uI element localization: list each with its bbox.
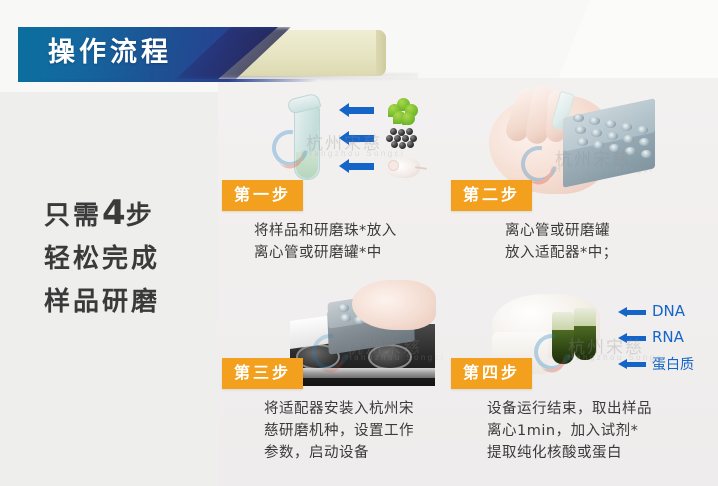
centrifuge-tube-icon <box>294 106 320 180</box>
grinding-beads-icon <box>386 128 418 150</box>
page-title: 操作流程 <box>48 36 172 70</box>
slide-root: 操作流程 只需4步 轻松完成 样品研磨 <box>0 0 718 486</box>
adapter-well <box>573 114 584 122</box>
lead-headline: 只需4步 轻松完成 样品研磨 <box>44 192 214 324</box>
lead-line-2: 轻松完成 <box>44 238 214 281</box>
vial-cap <box>574 308 596 326</box>
adapter-well <box>593 141 604 149</box>
adapter-well <box>641 150 652 158</box>
adapter-well <box>607 132 618 140</box>
plant-sample-icon <box>388 98 418 124</box>
adapter-well <box>577 138 588 146</box>
adapter-well <box>637 126 648 134</box>
lead-step-count: 4 <box>102 193 126 233</box>
arrow-right-icon-dna <box>626 310 646 315</box>
lead-line-3: 样品研磨 <box>44 281 214 324</box>
adapter-well <box>338 304 349 312</box>
step-caption-4: 设备运行结束，取出样品 离心1min，加入试剂* 提取纯化核酸或蛋白 <box>487 398 673 464</box>
vial-liquid <box>552 330 574 364</box>
lead-line-1-suffix: 步 <box>126 201 155 231</box>
vial-liquid <box>574 326 596 360</box>
step-card-3[interactable]: 杭州宋慈 Hangzhou Songci 第三步 将适配器安装入杭州宋 慈研磨机… <box>218 282 433 482</box>
step-caption-2: 离心管或研磨罐 放入适配器*中； <box>505 220 665 264</box>
animal-tissue-icon <box>386 158 420 178</box>
lead-line-1: 只需4步 <box>44 192 214 238</box>
machine-rim <box>290 368 435 378</box>
hand-icon <box>352 280 436 330</box>
output-label-dna: DNA <box>652 302 685 320</box>
output-label-protein: 蛋白质 <box>652 354 694 374</box>
arrow-right-icon-rna <box>626 336 646 341</box>
arrow-left-icon-3 <box>348 163 374 170</box>
arrow-right-icon-protein <box>626 362 646 367</box>
adapter-well <box>591 129 602 137</box>
adapter-well <box>340 314 351 322</box>
step-card-1[interactable]: 杭州宋慈 Hangzhou Songci 第一步 将样品和研磨珠*放入 离心管或… <box>218 82 433 262</box>
adapter-well <box>639 138 650 146</box>
adapter-well <box>621 123 632 131</box>
adapter-well <box>609 144 620 152</box>
sample-vial-2 <box>574 308 596 360</box>
header-banner: 操作流程 <box>18 27 418 79</box>
watermark-en: Hangzhou Songci <box>306 149 405 158</box>
banner-cream-edge <box>376 30 386 76</box>
adapter-well <box>589 117 600 125</box>
vial-cap <box>552 312 574 330</box>
adapter-well <box>575 126 586 134</box>
machine-rotor-right <box>368 344 412 370</box>
step-badge-4: 第四步 <box>451 358 532 389</box>
step-caption-3: 将适配器安装入杭州宋 慈研磨机种，设置工作 参数，启动设备 <box>264 398 440 464</box>
lead-line-1-prefix: 只需 <box>44 201 102 231</box>
photo-tube-sample-beads: 杭州宋慈 Hangzhou Songci <box>262 88 422 188</box>
arrow-left-icon-1 <box>348 107 374 114</box>
adapter-well <box>623 135 634 143</box>
step-caption-1: 将样品和研磨珠*放入 离心管或研磨罐*中 <box>254 220 440 264</box>
step-card-4[interactable]: DNA RNA 蛋白质 杭州宋慈 Hangzhou Songci 第四步 设备运… <box>445 282 660 482</box>
photo-adapter-in-machine: 杭州宋慈 Hangzhou Songci <box>290 286 435 386</box>
output-label-rna: RNA <box>652 328 684 346</box>
step-badge-1: 第一步 <box>222 180 303 211</box>
step-badge-2: 第二步 <box>451 180 532 211</box>
sample-vial-1 <box>552 312 574 364</box>
adapter-well <box>605 120 616 128</box>
tube-liquid <box>296 152 318 178</box>
arrow-left-icon-2 <box>348 135 374 142</box>
step-badge-3: 第三步 <box>222 358 303 389</box>
watermark-logo: 杭州宋慈 Hangzhou Songci <box>272 128 402 162</box>
step-card-2[interactable]: 杭州宋慈 Hangzhou Songci 第二步 离心管或研磨罐 放入适配器*中… <box>445 82 660 262</box>
adapter-well <box>625 147 636 155</box>
